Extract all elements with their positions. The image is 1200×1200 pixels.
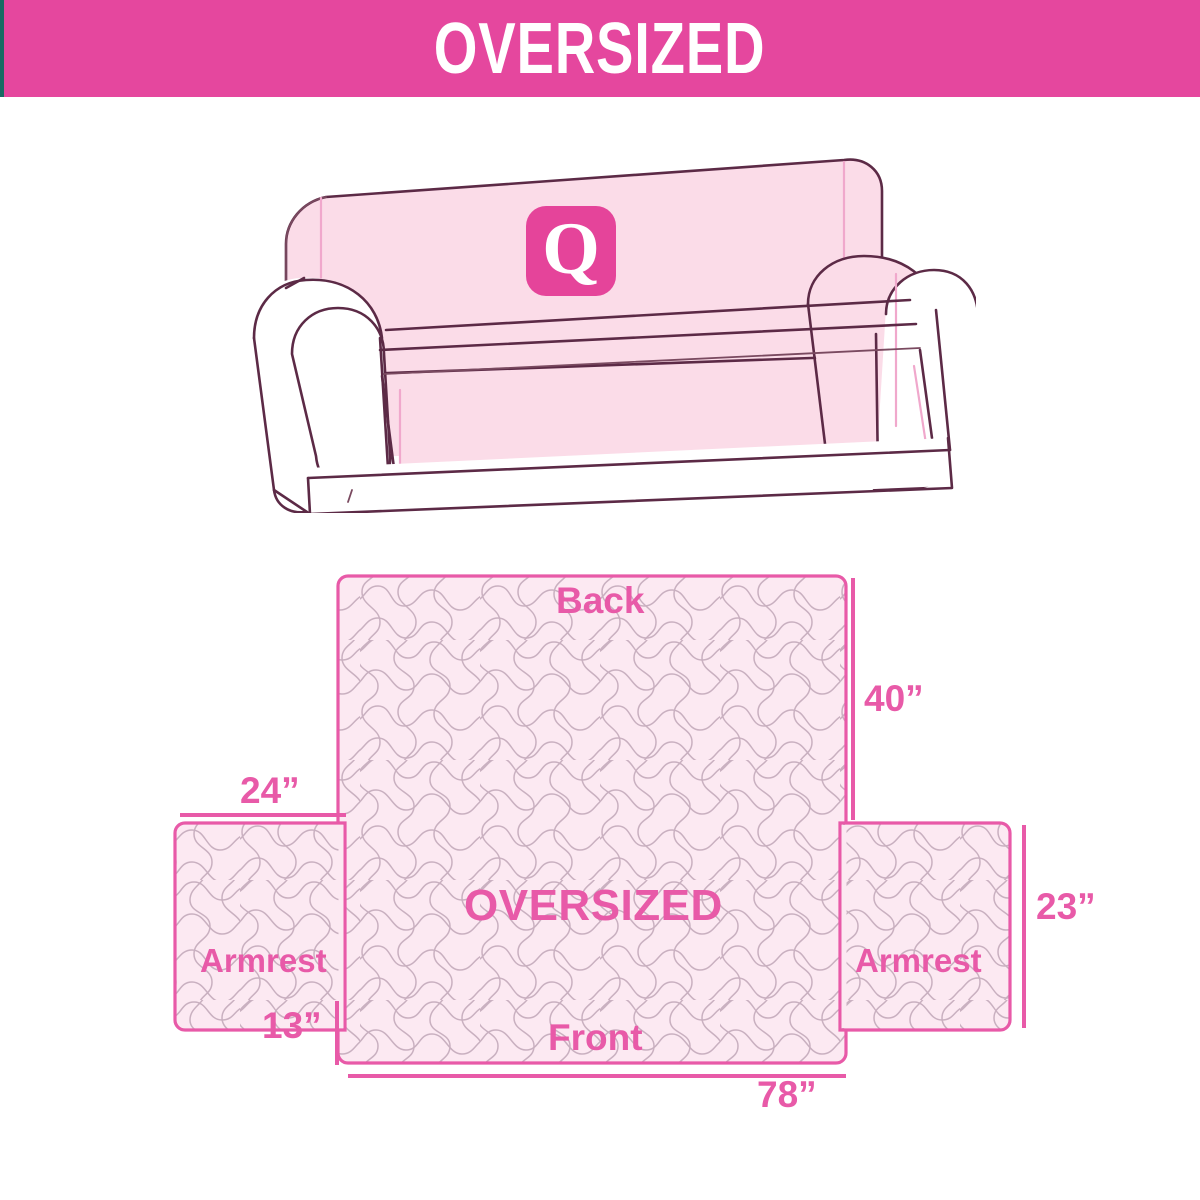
dimension-back-height: 40” <box>864 680 924 717</box>
sofa-illustration: .ol { fill:none; stroke:#5c2a46; stroke-… <box>248 138 976 513</box>
page-title: OVERSIZED <box>434 13 766 85</box>
brand-logo-badge: Q <box>526 206 616 296</box>
dimension-front-drop: 13” <box>262 1007 322 1044</box>
brand-logo-letter: Q <box>542 212 600 286</box>
diagram-center-label: OVERSIZED <box>464 884 723 928</box>
cover-armrest-right-panel <box>840 823 1010 1030</box>
dimension-total-width: 78” <box>757 1076 817 1113</box>
panel-label-armrest-right: Armrest <box>855 944 982 977</box>
panel-label-front: Front <box>548 1019 643 1056</box>
header-banner: OVERSIZED <box>0 0 1200 97</box>
cover-main-panel <box>338 576 846 1063</box>
infographic-page: OVERSIZED .ol { fill:none; stroke:#5c2a4… <box>0 0 1200 1200</box>
cover-armrest-left-panel <box>175 823 345 1030</box>
dimension-armrest-height: 23” <box>1036 888 1096 925</box>
panel-label-armrest-left: Armrest <box>200 944 327 977</box>
header-edge-strip <box>0 0 4 97</box>
dimension-back-width: 24” <box>240 772 300 809</box>
panel-label-back: Back <box>556 582 644 619</box>
